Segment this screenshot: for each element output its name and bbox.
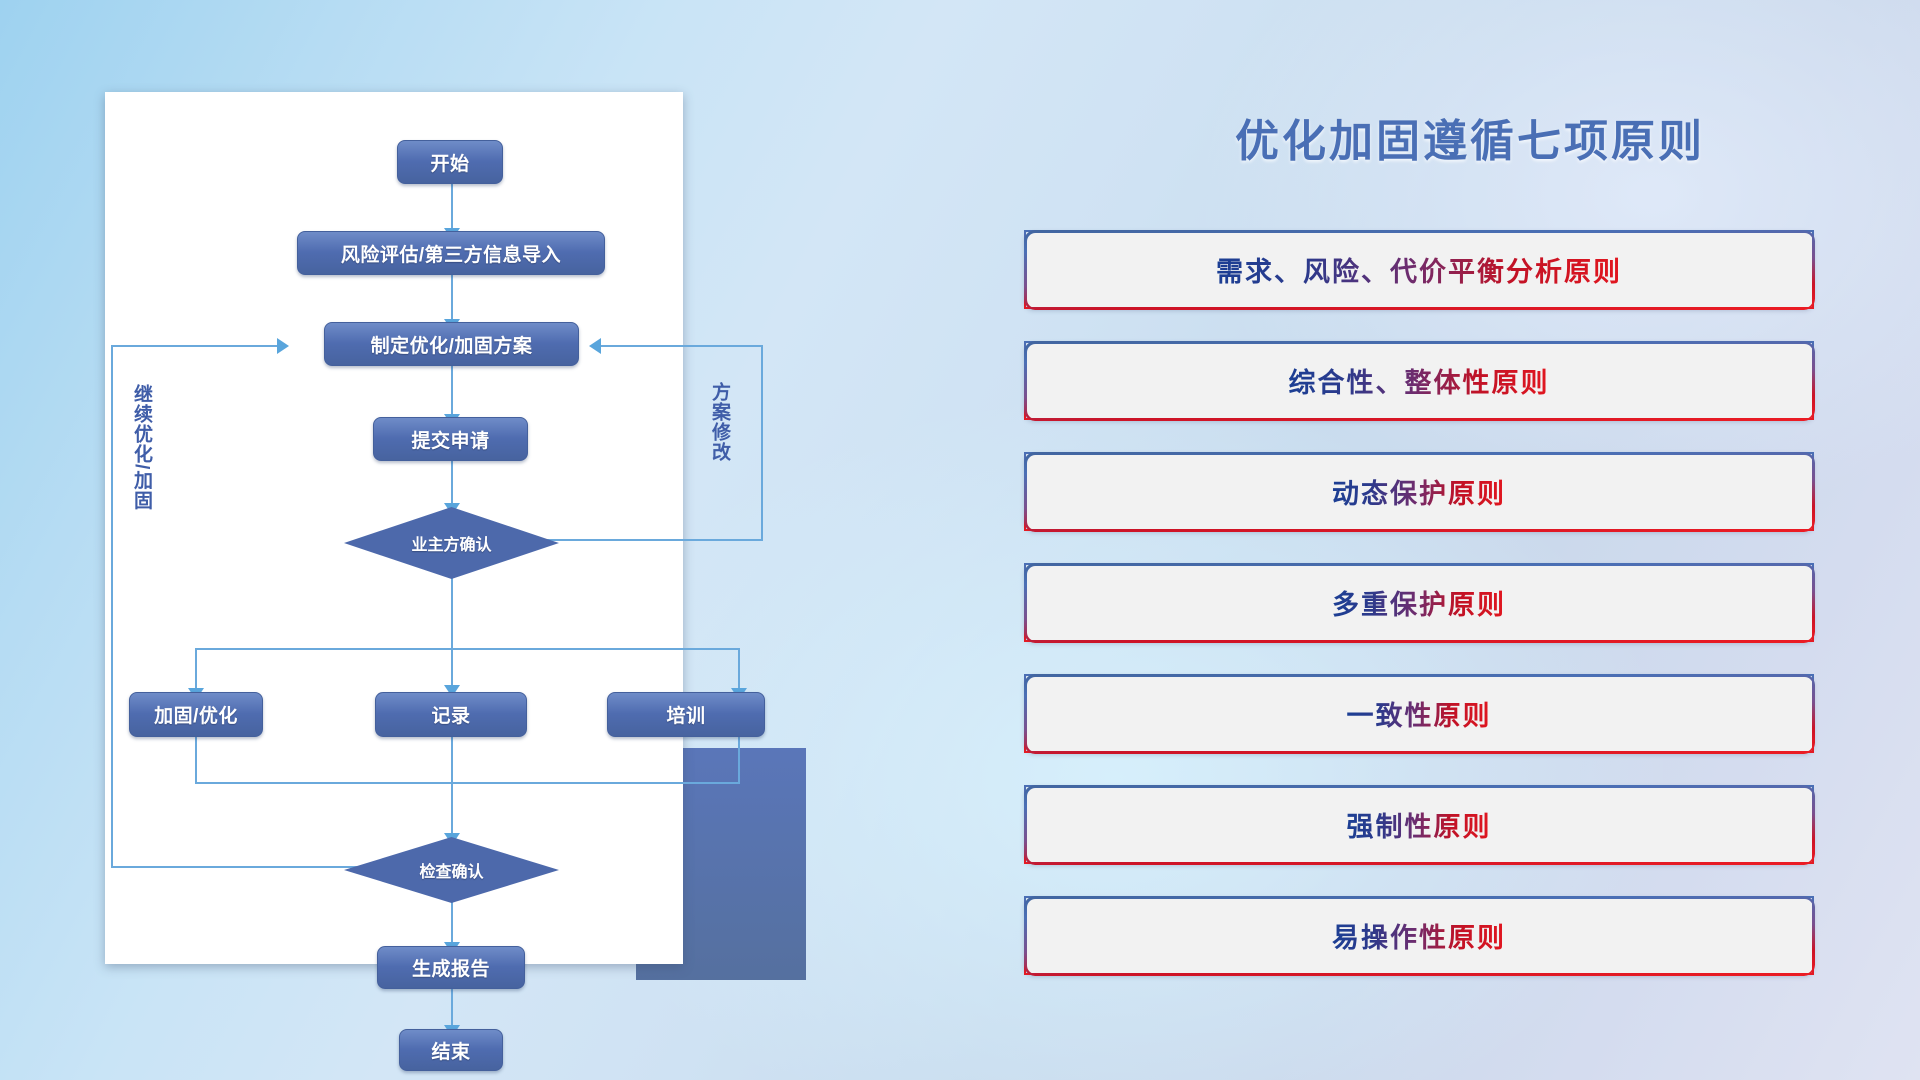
principle-label: 一致性原则	[1347, 694, 1492, 733]
principle-card[interactable]: 综合性、整体性原则	[1024, 341, 1814, 420]
connector-check-report	[451, 902, 453, 946]
flow-node-submit-application[interactable]: 提交申请	[373, 417, 528, 461]
principle-label: 综合性、整体性原则	[1289, 361, 1550, 400]
flow-node-training[interactable]: 培训	[607, 692, 765, 737]
page-title: 优化加固遵循七项原则	[1020, 105, 1920, 169]
flowchart-panel: 继续优化/加固 方案修改 开始 风险评估/第三方信息导入 制定优化/加固方案 提…	[0, 0, 1020, 1080]
connector-report-end	[451, 989, 453, 1029]
arrowhead-left-loop	[277, 338, 289, 354]
connector-start-risk	[451, 184, 453, 232]
flow-node-owner-confirm-label: 业主方确认	[411, 531, 491, 555]
connector-right-loop-top	[601, 345, 762, 347]
arrowhead-right-loop	[589, 338, 601, 354]
edge-label-continue-optimize: 继续优化/加固	[131, 384, 151, 510]
connector-submit-confirm	[451, 461, 453, 507]
flow-node-check-confirm-label: 检查确认	[419, 858, 483, 882]
connector-confirm-record	[451, 577, 453, 689]
connector-right-loop-bottom	[525, 539, 763, 541]
principles-panel: 优化加固遵循七项原则 需求、风险、代价平衡分析原则 综合性、整体性原则 动态保护…	[1020, 0, 1920, 1080]
principle-label: 强制性原则	[1347, 805, 1492, 844]
flow-node-reinforce-optimize[interactable]: 加固/优化	[129, 692, 263, 737]
connector-branch-bus	[195, 648, 740, 650]
connector-plan-submit	[451, 366, 453, 418]
principle-card[interactable]: 强制性原则	[1024, 785, 1814, 864]
connector-merge-left	[195, 737, 197, 784]
principle-label: 易操作性原则	[1332, 916, 1506, 955]
flow-node-check-confirm[interactable]: 检查确认	[344, 837, 559, 903]
connector-right-loop-vertical	[761, 345, 763, 541]
edge-label-plan-revise: 方案修改	[709, 382, 729, 462]
flow-node-start[interactable]: 开始	[397, 140, 503, 184]
principle-label: 需求、风险、代价平衡分析原则	[1216, 250, 1622, 289]
principle-card[interactable]: 需求、风险、代价平衡分析原则	[1024, 230, 1814, 309]
connector-risk-plan	[451, 275, 453, 323]
connector-merge-right	[738, 737, 740, 784]
flowchart-card: 继续优化/加固 方案修改 开始 风险评估/第三方信息导入 制定优化/加固方案 提…	[105, 92, 683, 964]
flow-node-record[interactable]: 记录	[375, 692, 527, 737]
flow-node-owner-confirm[interactable]: 业主方确认	[344, 507, 559, 579]
principle-label: 多重保护原则	[1332, 583, 1506, 622]
connector-left-loop-top	[111, 345, 280, 347]
connector-branch-right	[738, 648, 740, 692]
principle-card[interactable]: 多重保护原则	[1024, 563, 1814, 642]
principle-label: 动态保护原则	[1332, 472, 1506, 511]
connector-branch-left	[195, 648, 197, 692]
principle-card[interactable]: 一致性原则	[1024, 674, 1814, 753]
flow-node-end[interactable]: 结束	[399, 1029, 503, 1071]
principle-card[interactable]: 动态保护原则	[1024, 452, 1814, 531]
flowchart-canvas: 继续优化/加固 方案修改 开始 风险评估/第三方信息导入 制定优化/加固方案 提…	[105, 92, 683, 964]
connector-record-check	[451, 737, 453, 837]
connector-merge-bus	[195, 782, 740, 784]
connector-left-loop-vertical	[111, 345, 113, 868]
flow-node-risk-assessment[interactable]: 风险评估/第三方信息导入	[297, 231, 605, 275]
principles-list: 需求、风险、代价平衡分析原则 综合性、整体性原则 动态保护原则 多重保护原则 一…	[1024, 230, 1814, 1007]
flow-node-make-plan[interactable]: 制定优化/加固方案	[324, 322, 579, 366]
flow-node-generate-report[interactable]: 生成报告	[377, 946, 525, 989]
principle-card[interactable]: 易操作性原则	[1024, 896, 1814, 975]
